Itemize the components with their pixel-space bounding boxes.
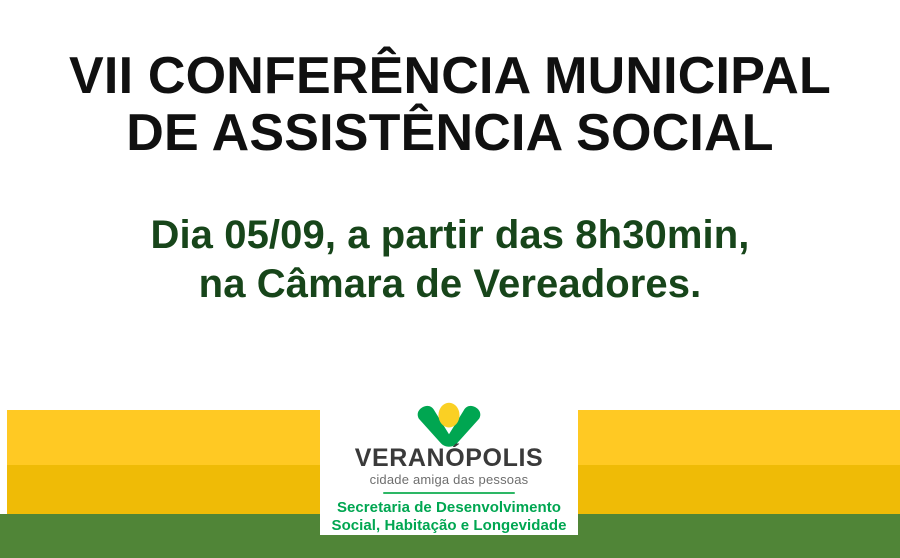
subtitle-line-2: na Câmara de Vereadores.	[0, 260, 900, 309]
logo-tagline: cidade amiga das pessoas	[370, 472, 529, 488]
logo-divider	[383, 492, 515, 494]
headline-line-2: DE ASSISTÊNCIA SOCIAL	[0, 105, 900, 162]
department-line-2: Social, Habitação e Longevidade	[332, 517, 567, 535]
page-title: VII CONFERÊNCIA MUNICIPAL DE ASSISTÊNCIA…	[0, 48, 900, 162]
department-line-1: Secretaria de Desenvolvimento	[332, 499, 567, 517]
event-details: Dia 05/09, a partir das 8h30min, na Câma…	[0, 211, 900, 309]
logo-wordmark: VERANÓPOLIS	[355, 445, 544, 472]
headline-line-1: VII CONFERÊNCIA MUNICIPAL	[0, 48, 900, 105]
veranopolis-person-v-mark-icon	[405, 402, 493, 447]
subtitle-line-1: Dia 05/09, a partir das 8h30min,	[0, 211, 900, 260]
poster-canvas: VII CONFERÊNCIA MUNICIPAL DE ASSISTÊNCIA…	[0, 0, 900, 558]
department-name: Secretaria de Desenvolvimento Social, Ha…	[332, 499, 567, 535]
logo-card: VERANÓPOLIS cidade amiga das pessoas Sec…	[320, 400, 578, 535]
